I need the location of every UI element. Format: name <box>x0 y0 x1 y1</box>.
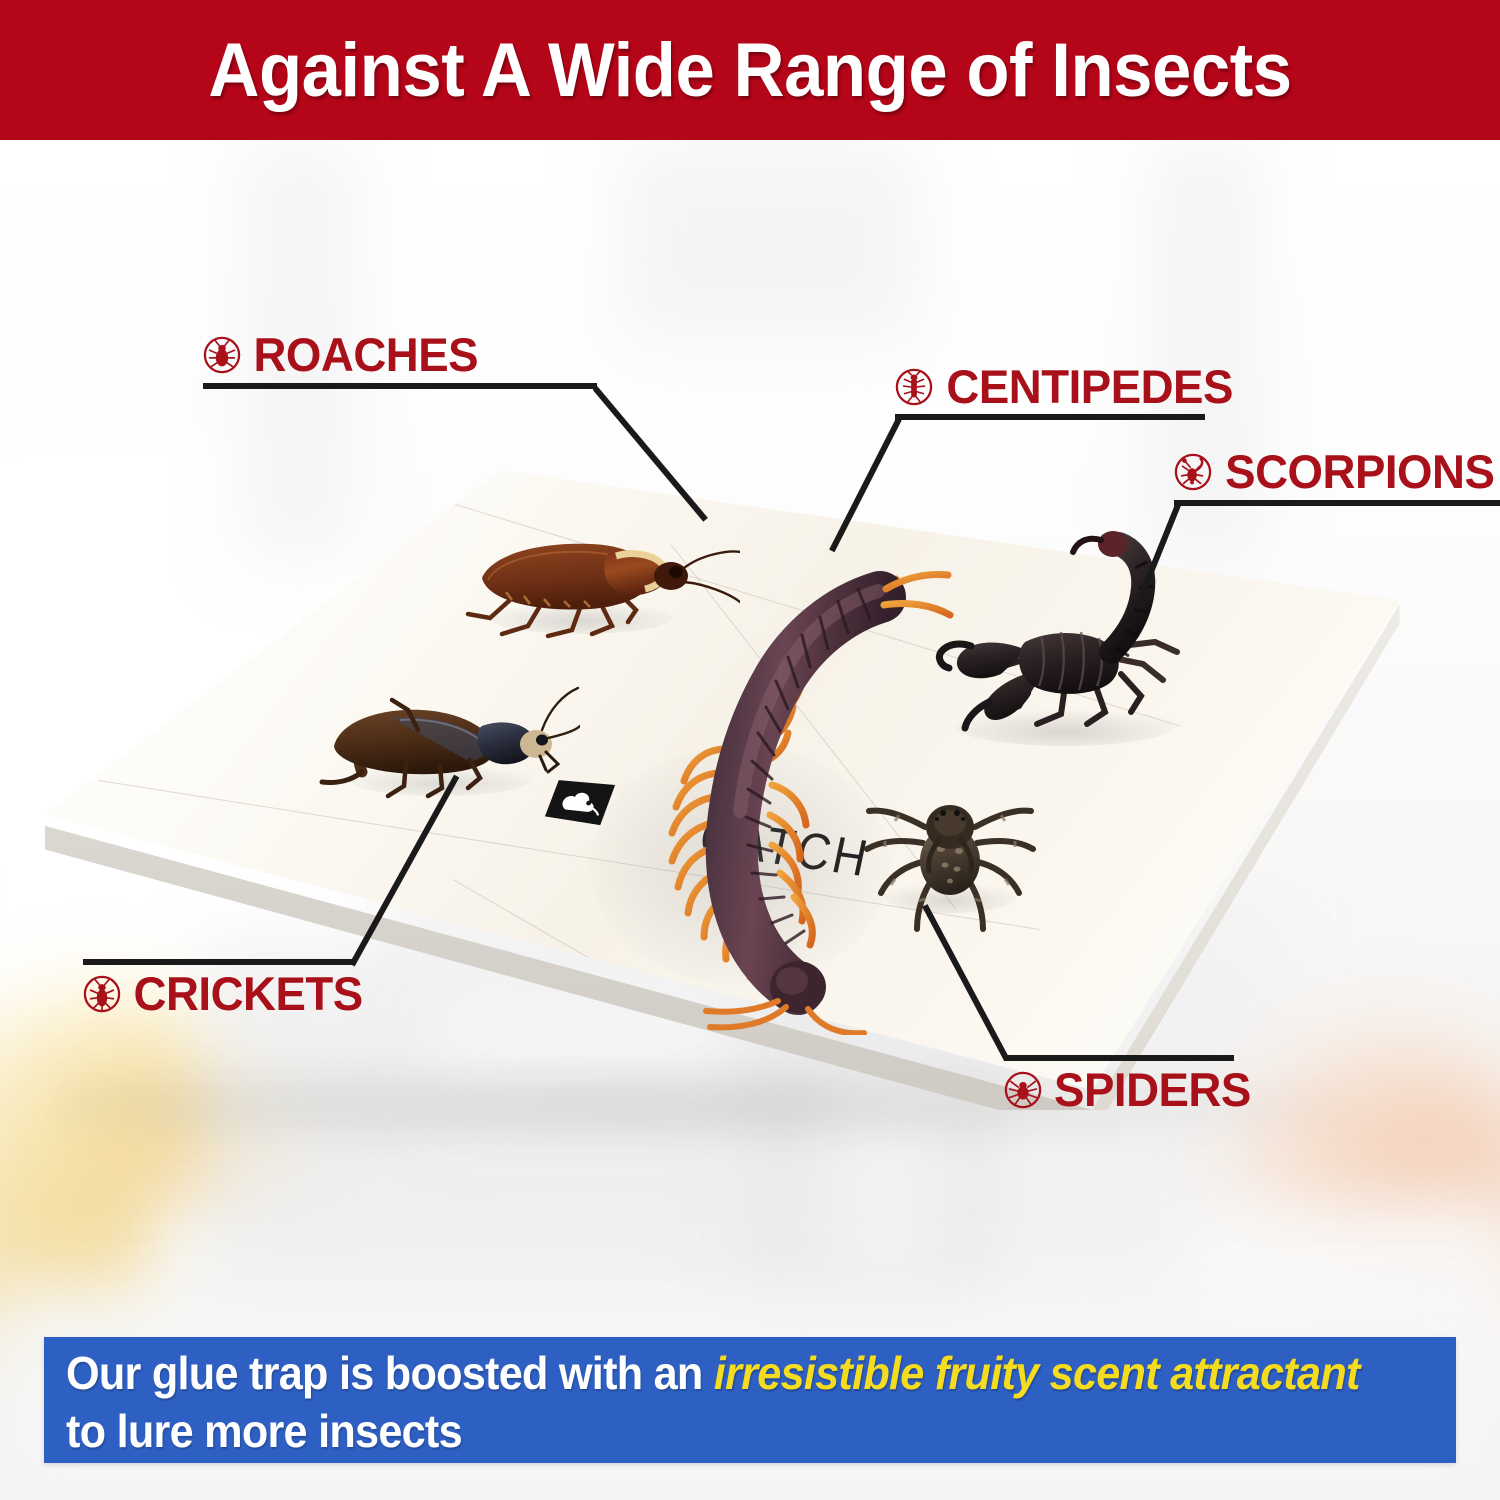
label-text-roaches: ROACHES <box>253 327 478 382</box>
scorpion-icon <box>1174 453 1212 491</box>
scorpion-on-trap <box>915 530 1235 780</box>
top-banner: Against A Wide Range of Insects <box>0 0 1500 140</box>
bottom-banner: Our glue trap is boosted with an irresis… <box>44 1337 1456 1463</box>
spider-icon <box>1004 1071 1042 1109</box>
product-infographic: Against A Wide Range of Insects CATCH ® <box>0 0 1500 1500</box>
label-scorpions: SCORPIONS <box>1174 444 1499 499</box>
leader-rule-spiders <box>1004 1055 1234 1061</box>
roach-icon <box>203 336 241 374</box>
leader-rule-roaches <box>203 383 597 389</box>
label-text-spiders: SPIDERS <box>1054 1062 1251 1117</box>
banner-text-before: Our glue trap is boosted with an <box>66 1347 714 1399</box>
bottom-banner-text: Our glue trap is boosted with an irresis… <box>66 1344 1373 1460</box>
label-text-crickets: CRICKETS <box>134 966 363 1021</box>
label-text-centipedes: CENTIPEDES <box>946 359 1232 414</box>
leader-rule-centipedes <box>895 414 1205 420</box>
spider-on-trap <box>855 765 1045 945</box>
centipede-icon <box>895 368 933 406</box>
cricket-on-trap <box>300 668 580 818</box>
banner-text-highlight: irresistible fruity scent attractant <box>714 1347 1360 1399</box>
label-spiders: SPIDERS <box>1004 1062 1254 1117</box>
label-crickets: CRICKETS <box>83 966 366 1021</box>
glue-trap-board: CATCH ® <box>0 140 1500 1340</box>
label-text-scorpions: SCORPIONS <box>1225 444 1494 499</box>
banner-text-after: to lure more insects <box>66 1405 462 1457</box>
label-centipedes: CENTIPEDES <box>895 359 1237 414</box>
page-title: Against A Wide Range of Insects <box>53 0 1448 140</box>
label-roaches: ROACHES <box>203 327 482 382</box>
leader-rule-scorpions <box>1174 500 1500 506</box>
cricket-icon <box>83 975 121 1013</box>
leader-rule-crickets <box>83 959 355 965</box>
